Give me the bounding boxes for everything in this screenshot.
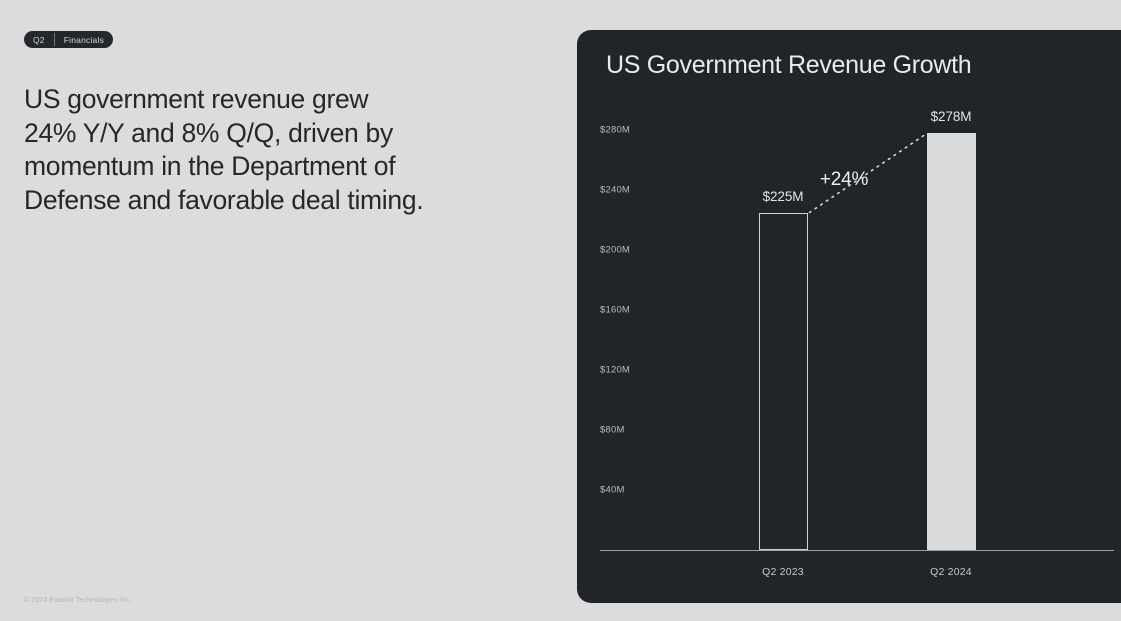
x-axis-tick-label: Q2 2023 xyxy=(762,566,804,578)
y-axis-tick-label: $80M xyxy=(600,425,625,436)
y-axis-tick-label: $280M xyxy=(600,125,630,136)
chart-x-axis-line xyxy=(600,550,1114,551)
chart-plot-area: +24% $40M$80M$120M$160M$200M$240M$280M$2… xyxy=(577,30,1121,603)
slide-left-column: Q2 Financials US government revenue grew… xyxy=(0,0,560,621)
footer-copyright: © 2024 Palantir Technologies Inc. xyxy=(24,597,132,604)
x-axis-tick-label: Q2 2024 xyxy=(930,566,972,578)
y-axis-tick-label: $200M xyxy=(600,245,630,256)
growth-annotation-label: +24% xyxy=(820,169,868,191)
badge-category-label: Financials xyxy=(55,31,113,48)
y-axis-tick-label: $160M xyxy=(600,305,630,316)
bar-value-label: $225M xyxy=(763,189,804,204)
y-axis-tick-label: $40M xyxy=(600,485,625,496)
slide-tag-badge: Q2 Financials xyxy=(24,31,113,48)
y-axis-tick-label: $240M xyxy=(600,185,630,196)
chart-bar[interactable] xyxy=(759,213,808,551)
chart-panel: US Government Revenue Growth +24% $40M$8… xyxy=(577,30,1121,603)
chart-bar[interactable] xyxy=(927,133,976,550)
growth-connector-line xyxy=(577,30,1121,603)
badge-quarter-label: Q2 xyxy=(24,31,54,48)
bar-value-label: $278M xyxy=(931,109,972,124)
y-axis-tick-label: $120M xyxy=(600,365,630,376)
slide-headline: US government revenue grew 24% Y/Y and 8… xyxy=(24,83,424,217)
